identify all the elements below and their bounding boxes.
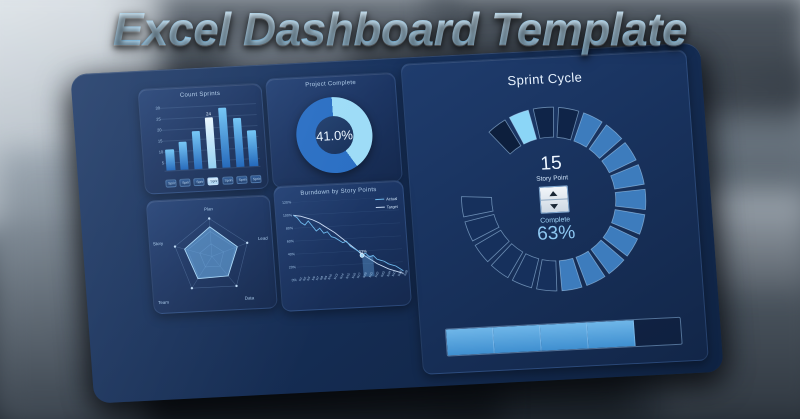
card-sprint-cycle[interactable]: Sprint Cycle 15 Story Point Complete 63% <box>400 49 709 375</box>
ring-segment-9[interactable] <box>614 189 646 211</box>
card-count-sprints[interactable]: Count Sprints 30 25 20 15 10 5 24 <box>137 83 269 195</box>
progress-segment-1[interactable] <box>446 327 495 355</box>
bar-category-3[interactable]: Sprint 3 <box>193 178 205 187</box>
burndown-y-tick: 100% <box>283 213 292 217</box>
card-radar[interactable]: Plan Lead Data Team Story <box>146 194 278 314</box>
donut-value: 41.0% <box>294 95 375 175</box>
screenshot-stage: Excel Dashboard Template Count Sprints 3… <box>0 0 800 419</box>
sprint-ring-gauge[interactable]: 15 Story Point Complete 63% <box>449 96 659 301</box>
radar-series-area <box>183 226 239 280</box>
radar-axis-label: Team <box>158 300 169 306</box>
legend-item-target: Target <box>376 204 398 210</box>
bar-chart-title: Count Sprints <box>139 89 261 101</box>
bar-category-1[interactable]: Sprint 1 <box>165 179 177 188</box>
burndown-x-axis: 5/15/25/35/65/75/85/95/105/135/145/155/1… <box>298 275 406 308</box>
donut-chart-title: Project Complete <box>267 78 395 90</box>
bar-value-label: 24 <box>206 111 211 116</box>
bar-category-5[interactable]: Sprint 5 <box>222 176 234 185</box>
bar-7[interactable] <box>247 130 258 167</box>
legend-swatch-actual <box>375 199 384 200</box>
radar-axis-label: Plan <box>204 206 213 211</box>
donut-chart[interactable]: 41.0% <box>294 95 375 175</box>
sprint-cycle-title: Sprint Cycle <box>402 64 687 93</box>
donut-chart-wrap: 41.0% <box>267 89 401 181</box>
burndown-y-tick: 120% <box>282 200 291 204</box>
bar-2[interactable] <box>178 142 189 170</box>
ring-segment-15[interactable] <box>534 259 558 292</box>
burndown-marker[interactable] <box>360 253 364 257</box>
bar-chart-category-buttons[interactable]: Sprint 1Sprint 2Sprint 3Sprint 4Sprint 5… <box>165 175 261 188</box>
progress-segment-4[interactable] <box>587 320 636 348</box>
down-arrow-icon <box>550 203 558 208</box>
progress-segment-3[interactable] <box>540 322 589 350</box>
card-burndown[interactable]: Burndown by Story Points 120%100%80%60%4… <box>273 180 412 312</box>
story-point-stepper[interactable] <box>538 185 569 213</box>
legend-swatch-target <box>376 207 385 208</box>
card-project-complete[interactable]: Project Complete 41.0% <box>265 72 403 188</box>
up-arrow-icon <box>549 190 557 195</box>
burndown-y-tick: 20% <box>289 265 296 269</box>
burndown-y-tick: 0% <box>292 278 297 282</box>
bar-3[interactable] <box>192 130 203 169</box>
progress-segment-2[interactable] <box>493 325 542 353</box>
radar-axis-label: Data <box>245 295 255 300</box>
radar-axis-point <box>191 287 194 290</box>
burndown-y-tick: 80% <box>286 226 293 230</box>
bar-1[interactable] <box>165 149 175 171</box>
bar-5[interactable] <box>218 108 231 168</box>
radar-axis-label: Story <box>153 241 164 247</box>
bar-chart-plot: 24 <box>160 102 261 171</box>
burndown-y-tick: 60% <box>287 239 294 243</box>
bar-category-6[interactable]: Sprint 6 <box>236 176 248 185</box>
radar-axis-label: Lead <box>258 236 268 241</box>
sprint-progress-bar[interactable] <box>445 317 683 357</box>
burndown-point-label: 33% <box>359 248 367 253</box>
radar-chart: Plan Lead Data Team Story <box>147 203 276 309</box>
sprint-ring-center: 15 Story Point Complete 63% <box>495 151 611 246</box>
burndown-y-tick: 40% <box>288 252 295 256</box>
progress-segment-5[interactable] <box>634 318 682 346</box>
legend-label-actual: Actual <box>386 196 397 202</box>
bar-category-4[interactable]: Sprint 4 <box>208 177 220 186</box>
bar-category-7[interactable]: Sprint 7 <box>250 175 262 184</box>
bar-4[interactable] <box>204 117 216 168</box>
ring-segment-20[interactable] <box>461 195 493 217</box>
dashboard-panel: Count Sprints 30 25 20 15 10 5 24 <box>70 43 724 404</box>
stepper-down-button[interactable] <box>540 199 568 212</box>
bar-category-2[interactable]: Sprint 2 <box>179 178 191 187</box>
bar-6[interactable] <box>232 118 244 167</box>
legend-item-actual: Actual <box>375 196 397 202</box>
legend-label-target: Target <box>386 204 397 210</box>
ring-segment-3[interactable] <box>533 107 556 139</box>
burndown-legend: Actual Target <box>375 196 398 213</box>
